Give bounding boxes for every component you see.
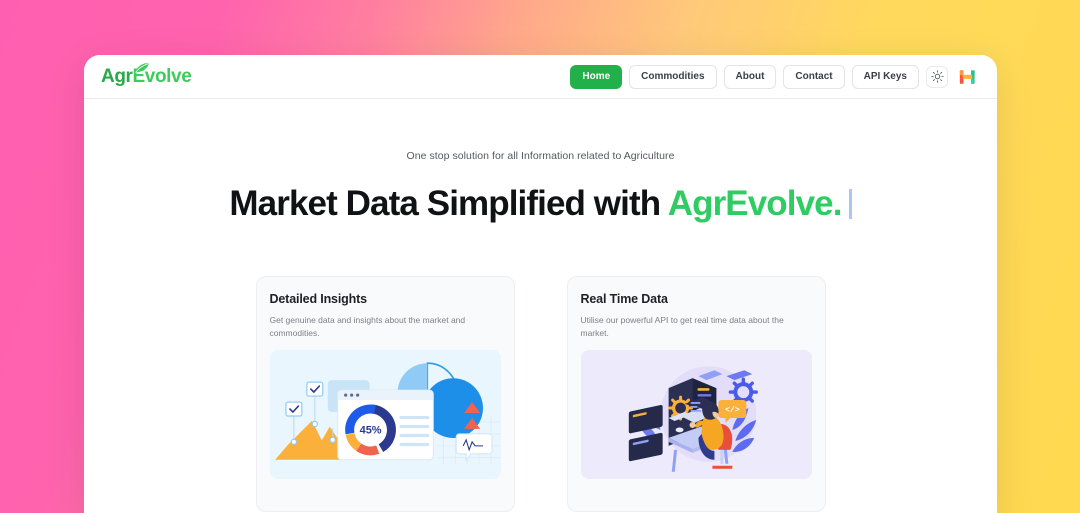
page-title: Market Data Simplified with AgrEvolve.: [84, 184, 997, 224]
developer-workstation-illustration: </>: [581, 350, 812, 479]
sun-icon: [931, 70, 944, 83]
donut-value-label: 45%: [359, 424, 381, 436]
hero-title-accent: AgrEvolve.: [668, 184, 842, 223]
feature-cards: Detailed Insights Get genuine data and i…: [84, 276, 997, 512]
nav-item-home[interactable]: Home: [570, 65, 622, 89]
feature-card-description: Get genuine data and insights about the …: [270, 314, 501, 339]
hero-title-plain: Market Data Simplified with: [229, 184, 667, 223]
site-logo[interactable]: Agr Evolve: [101, 67, 191, 86]
feature-card-detailed-insights[interactable]: Detailed Insights Get genuine data and i…: [256, 276, 515, 512]
nav-item-api-keys[interactable]: API Keys: [852, 65, 919, 89]
site-header: Agr Evolve Home Commodities About Contac…: [84, 55, 997, 99]
feature-card-title: Real Time Data: [581, 292, 812, 306]
leaf-icon: [134, 62, 150, 74]
hero-subtitle: One stop solution for all Information re…: [84, 150, 997, 162]
svg-text:</>: </>: [725, 406, 740, 415]
nav-item-about[interactable]: About: [724, 65, 777, 89]
nav-item-contact[interactable]: Contact: [783, 65, 844, 89]
h-logo-icon: [959, 69, 976, 85]
typing-cursor: [849, 189, 852, 219]
feature-card-title: Detailed Insights: [270, 292, 501, 306]
app-window: Agr Evolve Home Commodities About Contac…: [84, 55, 997, 513]
main-navigation: Home Commodities About Contact API Keys: [570, 65, 979, 89]
theme-toggle-button[interactable]: [926, 66, 948, 88]
nav-item-commodities[interactable]: Commodities: [629, 65, 716, 89]
logo-text-primary: Agr: [101, 67, 133, 86]
feature-card-description: Utilise our powerful API to get real tim…: [581, 314, 812, 339]
feature-card-real-time-data[interactable]: Real Time Data Utilise our powerful API …: [567, 276, 826, 512]
brand-badge-button[interactable]: [955, 66, 979, 88]
hero-section: One stop solution for all Information re…: [84, 99, 997, 224]
analytics-dashboard-illustration: 45%: [270, 350, 501, 479]
